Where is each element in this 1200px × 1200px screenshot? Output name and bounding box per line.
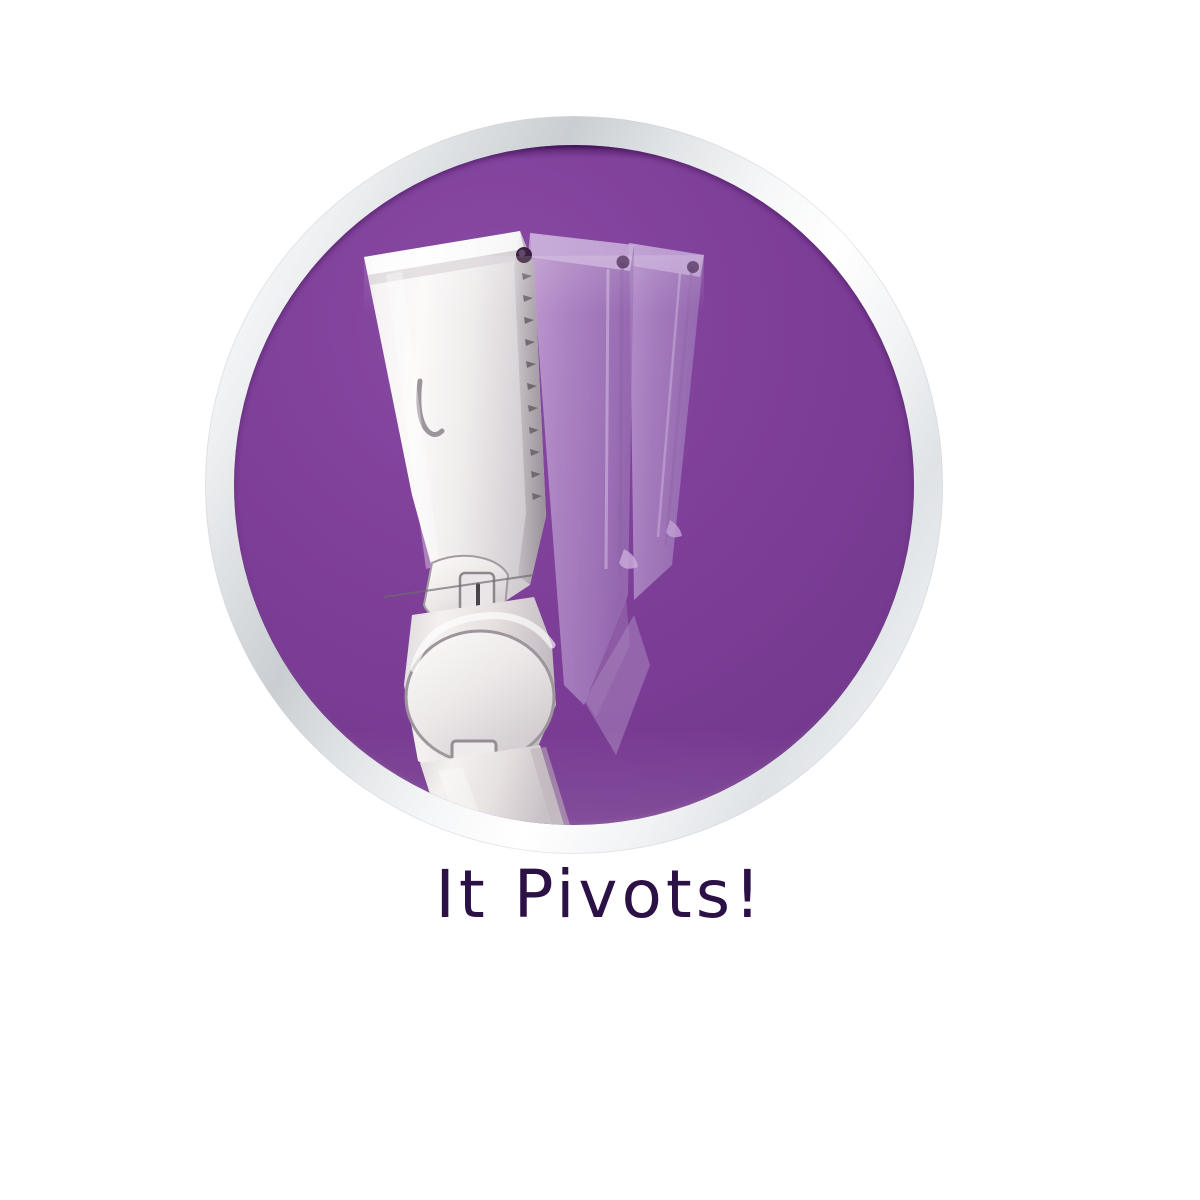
circular-product-badge bbox=[205, 116, 943, 854]
stapler-artwork bbox=[234, 145, 914, 825]
purple-disc bbox=[234, 145, 914, 825]
page-root: It Pivots! bbox=[0, 0, 1200, 1200]
caption-it-pivots: It Pivots! bbox=[0, 862, 1200, 928]
